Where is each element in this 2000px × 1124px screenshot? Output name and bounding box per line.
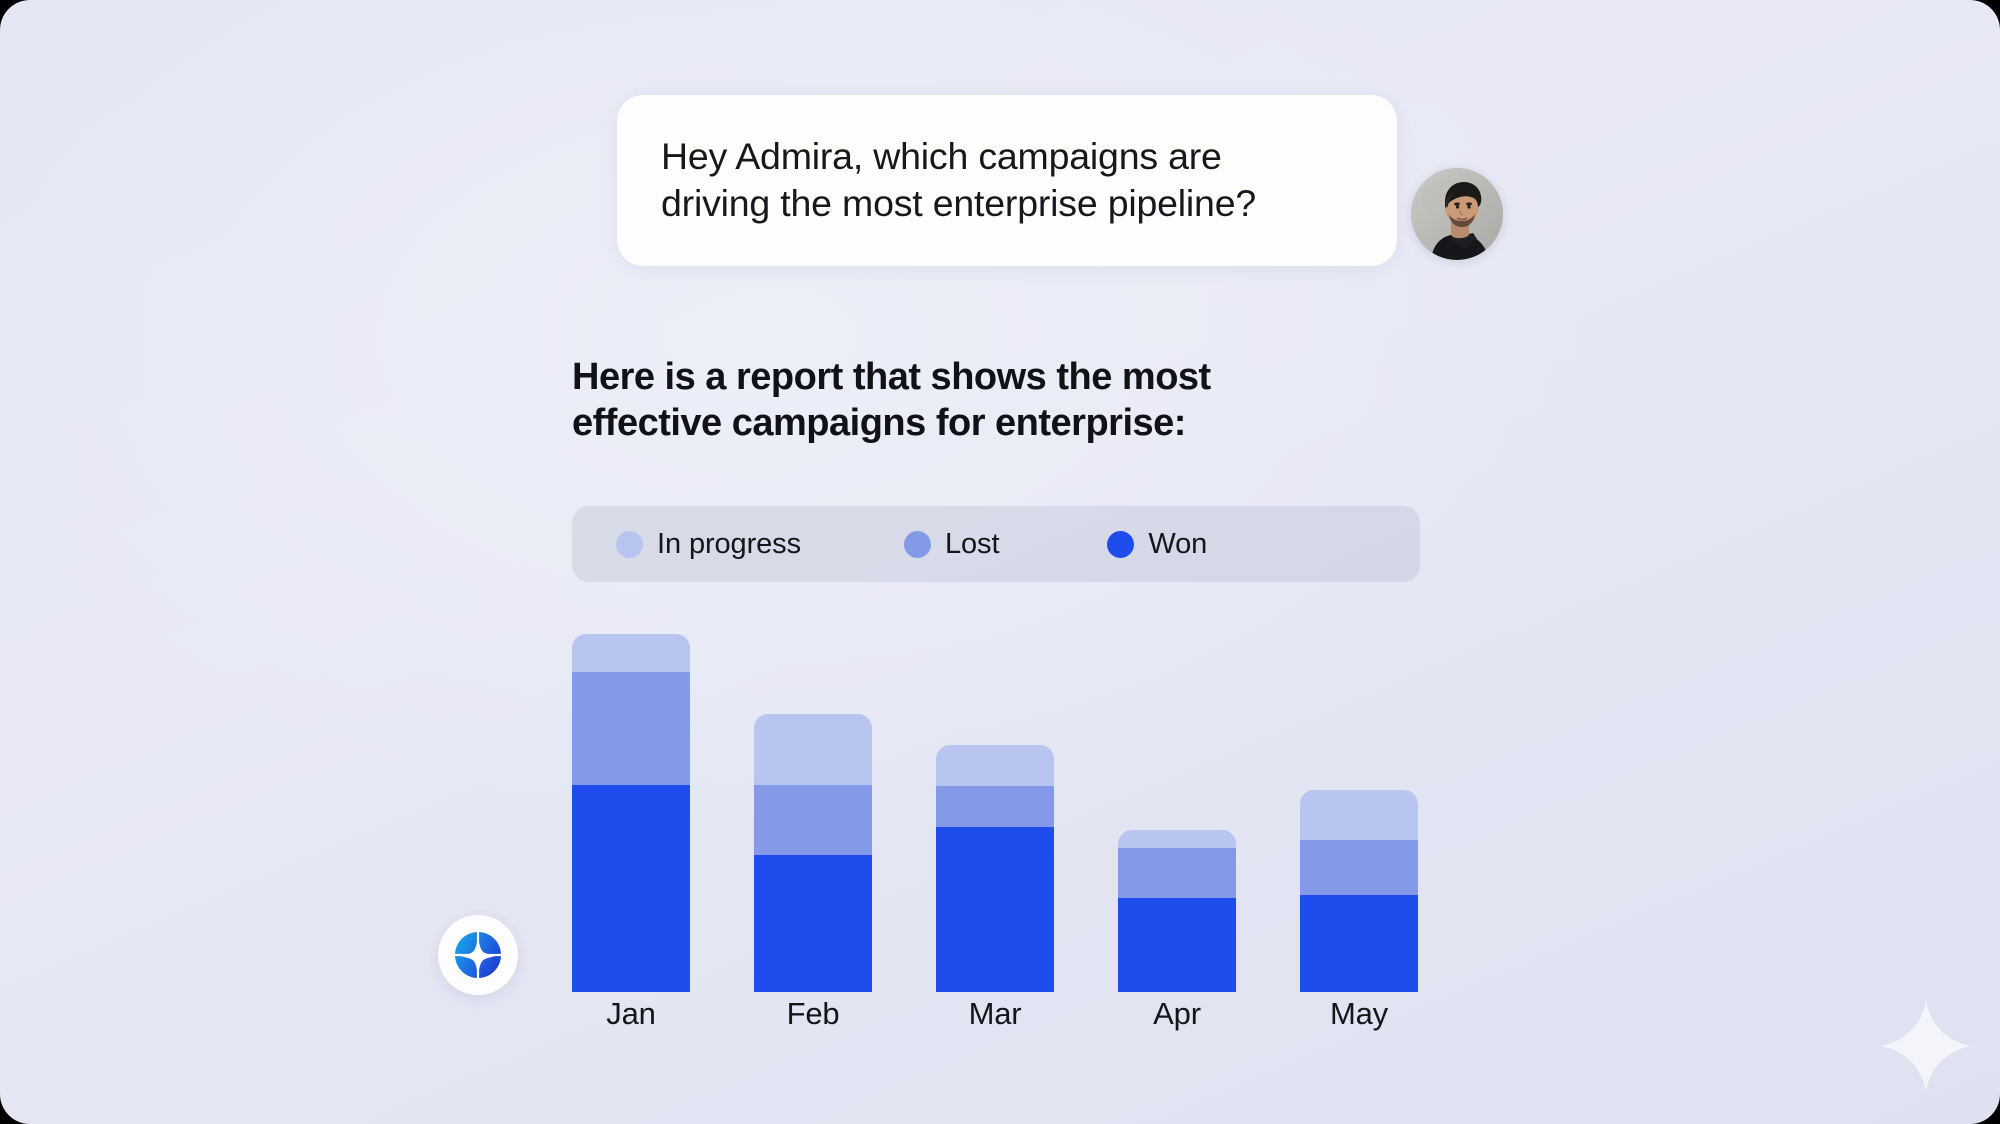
sparkle-decoration xyxy=(1876,996,1976,1096)
bar-segment-won xyxy=(572,785,690,992)
bar-may[interactable] xyxy=(1300,790,1418,992)
bar-segment-in-progress xyxy=(754,714,872,785)
admira-logo-icon xyxy=(455,932,501,978)
bar-segment-in-progress xyxy=(1118,830,1236,848)
bar-apr[interactable] xyxy=(1118,830,1236,992)
legend-item-won[interactable]: Won xyxy=(1107,528,1207,561)
x-axis-label-feb: Feb xyxy=(754,996,872,1032)
legend-dot-icon-in-progress xyxy=(616,531,643,558)
legend-item-in-progress[interactable]: In progress xyxy=(616,528,801,561)
bar-segment-won xyxy=(1118,898,1236,992)
bar-segment-lost xyxy=(1300,840,1418,895)
report-card: Hey Admira, which campaigns are driving … xyxy=(0,0,2000,1124)
screenshot-root: Hey Admira, which campaigns are driving … xyxy=(0,0,2000,1124)
bar-segment-lost xyxy=(754,785,872,855)
bar-mar[interactable] xyxy=(936,745,1054,992)
legend-label-lost: Lost xyxy=(945,528,999,561)
chart-legend: In progress Lost Won xyxy=(572,506,1420,582)
x-axis-label-apr: Apr xyxy=(1118,996,1236,1032)
sparkle-icon xyxy=(1876,996,1976,1096)
user-message-line-1: Hey Admira, which campaigns are xyxy=(661,133,1353,180)
campaign-bar-chart: JanFebMarAprMay xyxy=(572,600,1472,1070)
x-axis-label-jan: Jan xyxy=(572,996,690,1032)
legend-dot-icon-lost xyxy=(904,531,931,558)
bar-segment-in-progress xyxy=(1300,790,1418,840)
assistant-reply-line-2: effective campaigns for enterprise: xyxy=(572,400,1332,446)
bar-segment-lost xyxy=(572,672,690,785)
legend-dot-icon-won xyxy=(1107,531,1134,558)
legend-item-lost[interactable]: Lost xyxy=(904,528,999,561)
bar-segment-lost xyxy=(1118,848,1236,898)
bar-segment-in-progress xyxy=(936,745,1054,786)
chart-x-axis: JanFebMarAprMay xyxy=(572,996,1472,1056)
x-axis-label-may: May xyxy=(1300,996,1418,1032)
bar-segment-won xyxy=(936,827,1054,992)
legend-label-won: Won xyxy=(1148,528,1207,561)
legend-label-in-progress: In progress xyxy=(657,528,801,561)
bar-segment-in-progress xyxy=(572,634,690,672)
assistant-reply: Here is a report that shows the most eff… xyxy=(572,354,1332,447)
bar-feb[interactable] xyxy=(754,714,872,992)
bar-jan[interactable] xyxy=(572,634,690,992)
user-message-row: Hey Admira, which campaigns are driving … xyxy=(617,95,1503,266)
avatar[interactable] xyxy=(1411,168,1503,260)
bar-segment-lost xyxy=(936,786,1054,827)
bar-segment-won xyxy=(1300,895,1418,992)
admira-logo-badge[interactable] xyxy=(438,915,518,995)
x-axis-label-mar: Mar xyxy=(936,996,1054,1032)
user-message-line-2: driving the most enterprise pipeline? xyxy=(661,180,1353,227)
chart-plot-area xyxy=(572,600,1472,992)
assistant-reply-line-1: Here is a report that shows the most xyxy=(572,354,1332,400)
bar-segment-won xyxy=(754,855,872,992)
avatar-photo xyxy=(1411,168,1503,260)
user-message-bubble: Hey Admira, which campaigns are driving … xyxy=(617,95,1397,266)
